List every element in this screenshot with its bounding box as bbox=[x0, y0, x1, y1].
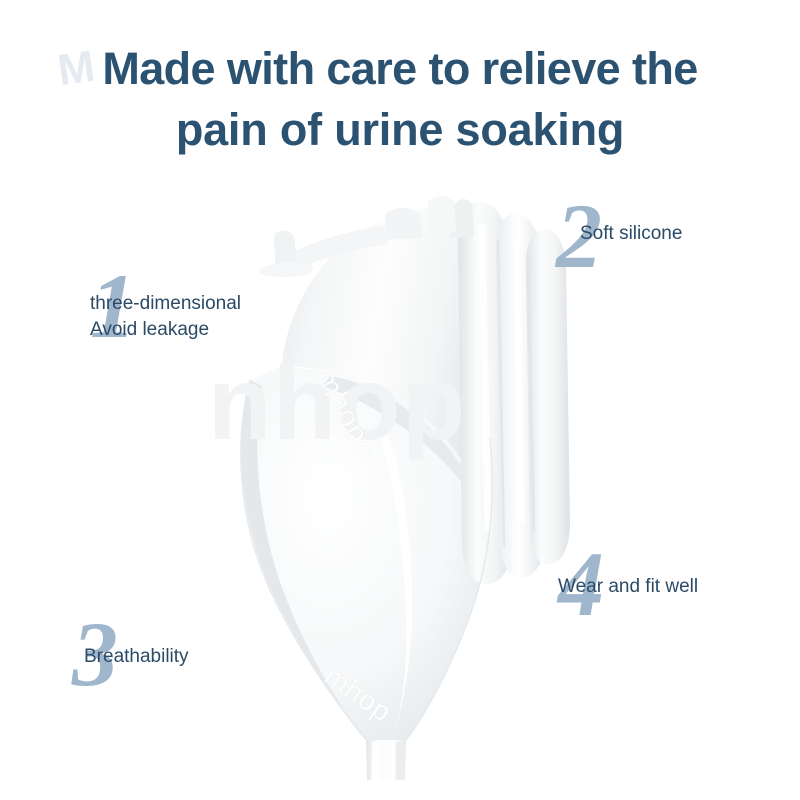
feature-label-1-line-2: Avoid leakage bbox=[90, 319, 209, 340]
feature-label-1: three-dimensional Avoid leakage bbox=[90, 291, 241, 343]
feature-label-3: Breathability bbox=[84, 644, 189, 670]
page-title-line-2: pain of urine soaking bbox=[0, 99, 800, 160]
feature-callout-3: 3 Breathability bbox=[62, 606, 312, 716]
feature-label-4: Wear and fit well bbox=[558, 574, 698, 600]
page-title-line-1: Made with care to relieve the bbox=[0, 38, 800, 99]
feature-label-2: Soft silicone bbox=[580, 221, 682, 247]
feature-label-1-line-1: three-dimensional bbox=[90, 293, 241, 314]
product-infographic-page: M Made with care to relieve the pain of … bbox=[0, 0, 800, 800]
feature-callout-1: 1 three-dimensional Avoid leakage bbox=[78, 258, 358, 368]
feature-callout-4: 4 Wear and fit well bbox=[548, 538, 798, 648]
page-title: Made with care to relieve the pain of ur… bbox=[0, 38, 800, 160]
feature-callout-2: 2 Soft silicone bbox=[548, 190, 788, 300]
